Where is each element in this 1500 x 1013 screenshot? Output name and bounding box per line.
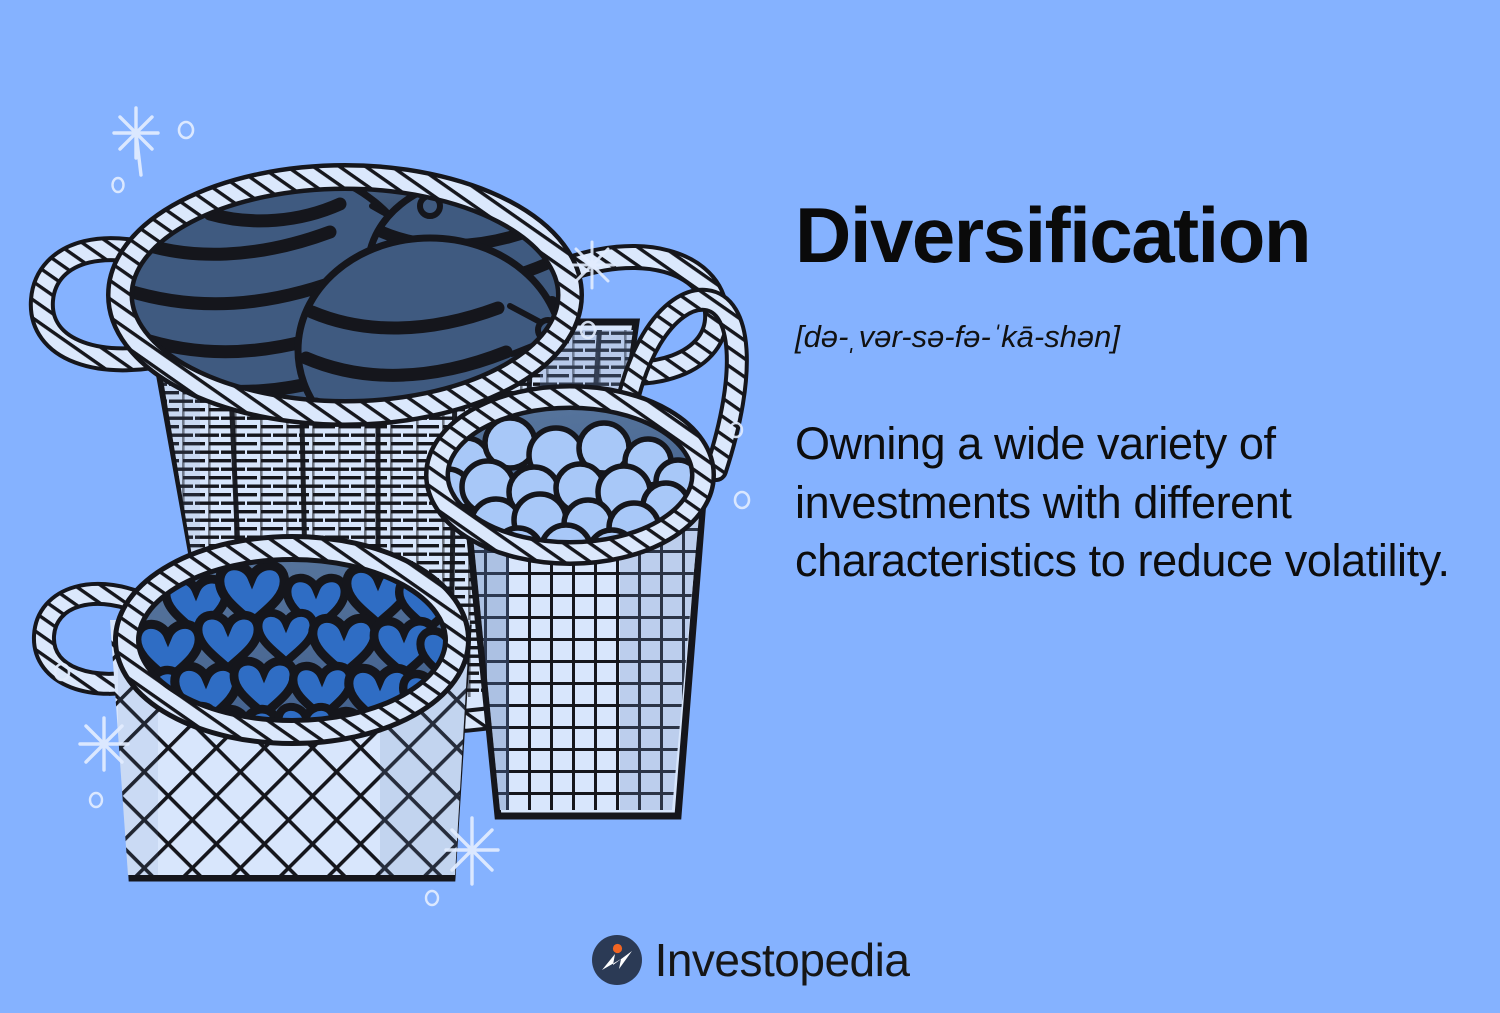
dot-icon bbox=[90, 793, 102, 807]
definition-panel: Diversification [də-ˌvər-sə-fə-ˈkā-shən]… bbox=[795, 196, 1455, 591]
sparkle-icon bbox=[80, 718, 128, 770]
dot-icon bbox=[426, 891, 438, 905]
pronunciation-text: [də-ˌvər-sə-fə-ˈkā-shən] bbox=[795, 274, 1455, 355]
dot-icon bbox=[179, 122, 193, 138]
basket-hearts bbox=[44, 548, 490, 890]
sparkle-icon bbox=[570, 242, 614, 288]
dot-icon bbox=[735, 492, 749, 508]
investopedia-logo-icon bbox=[591, 934, 643, 986]
basket-illustration bbox=[0, 0, 780, 920]
sparkle-icon bbox=[114, 108, 158, 175]
dot-icon bbox=[113, 178, 124, 192]
brand-name: Investopedia bbox=[655, 937, 910, 983]
page-title: Diversification bbox=[795, 196, 1455, 274]
infographic-page: Diversification [də-ˌvər-sə-fə-ˈkā-shən]… bbox=[0, 0, 1500, 1013]
definition-text: Owning a wide variety of investments wit… bbox=[795, 355, 1455, 591]
sparkle-decorations bbox=[113, 108, 194, 192]
brand-logo: Investopedia bbox=[0, 934, 1500, 986]
